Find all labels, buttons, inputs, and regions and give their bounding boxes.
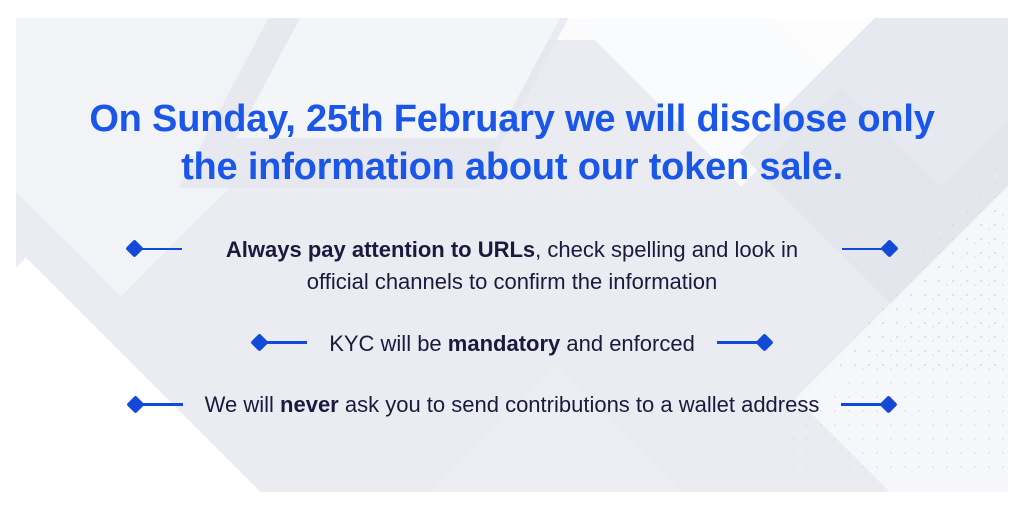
list-item-emphasis: Always pay attention to URLs — [226, 237, 535, 262]
diamond-rule-marker — [253, 328, 307, 358]
list-item-suffix: and enforced — [560, 331, 695, 356]
bullet-list: Always pay attention to URLs, check spel… — [37, 234, 987, 422]
list-item-emphasis: mandatory — [448, 331, 560, 356]
diamond-icon — [880, 240, 898, 258]
diamond-rule-marker — [129, 389, 183, 419]
headline-line-2: the information about our token sale. — [82, 144, 942, 192]
rule-line — [140, 248, 182, 251]
list-item: We will never ask you to send contributi… — [37, 389, 987, 421]
rule-line — [717, 341, 759, 344]
list-item-text: Always pay attention to URLs, check spel… — [182, 234, 842, 298]
diamond-icon — [125, 240, 143, 258]
diamond-icon — [250, 333, 268, 351]
list-item-suffix: ask you to send contributions to a walle… — [339, 392, 820, 417]
rule-line — [842, 248, 884, 251]
headline: On Sunday, 25th February we will disclos… — [82, 96, 942, 192]
headline-line-1: On Sunday, 25th February we will disclos… — [82, 96, 942, 144]
diamond-icon — [880, 395, 898, 413]
announcement-graphic: On Sunday, 25th February we will disclos… — [0, 0, 1024, 512]
list-item-text: We will never ask you to send contributi… — [183, 389, 842, 421]
list-item-prefix: We will — [205, 392, 280, 417]
rule-line — [265, 341, 307, 344]
rule-diamond-marker — [842, 234, 896, 264]
list-item: KYC will be mandatory and enforced — [37, 328, 987, 360]
diamond-icon — [126, 395, 144, 413]
rule-diamond-marker — [717, 328, 771, 358]
list-item-prefix: KYC will be — [329, 331, 448, 356]
list-item: Always pay attention to URLs, check spel… — [37, 234, 987, 298]
rule-diamond-marker — [841, 389, 895, 419]
diamond-icon — [755, 333, 773, 351]
rule-line — [841, 403, 883, 406]
list-item-text: KYC will be mandatory and enforced — [307, 328, 717, 360]
content-layer: On Sunday, 25th February we will disclos… — [0, 0, 1024, 512]
list-item-emphasis: never — [280, 392, 339, 417]
diamond-rule-marker — [128, 234, 182, 264]
rule-line — [141, 403, 183, 406]
